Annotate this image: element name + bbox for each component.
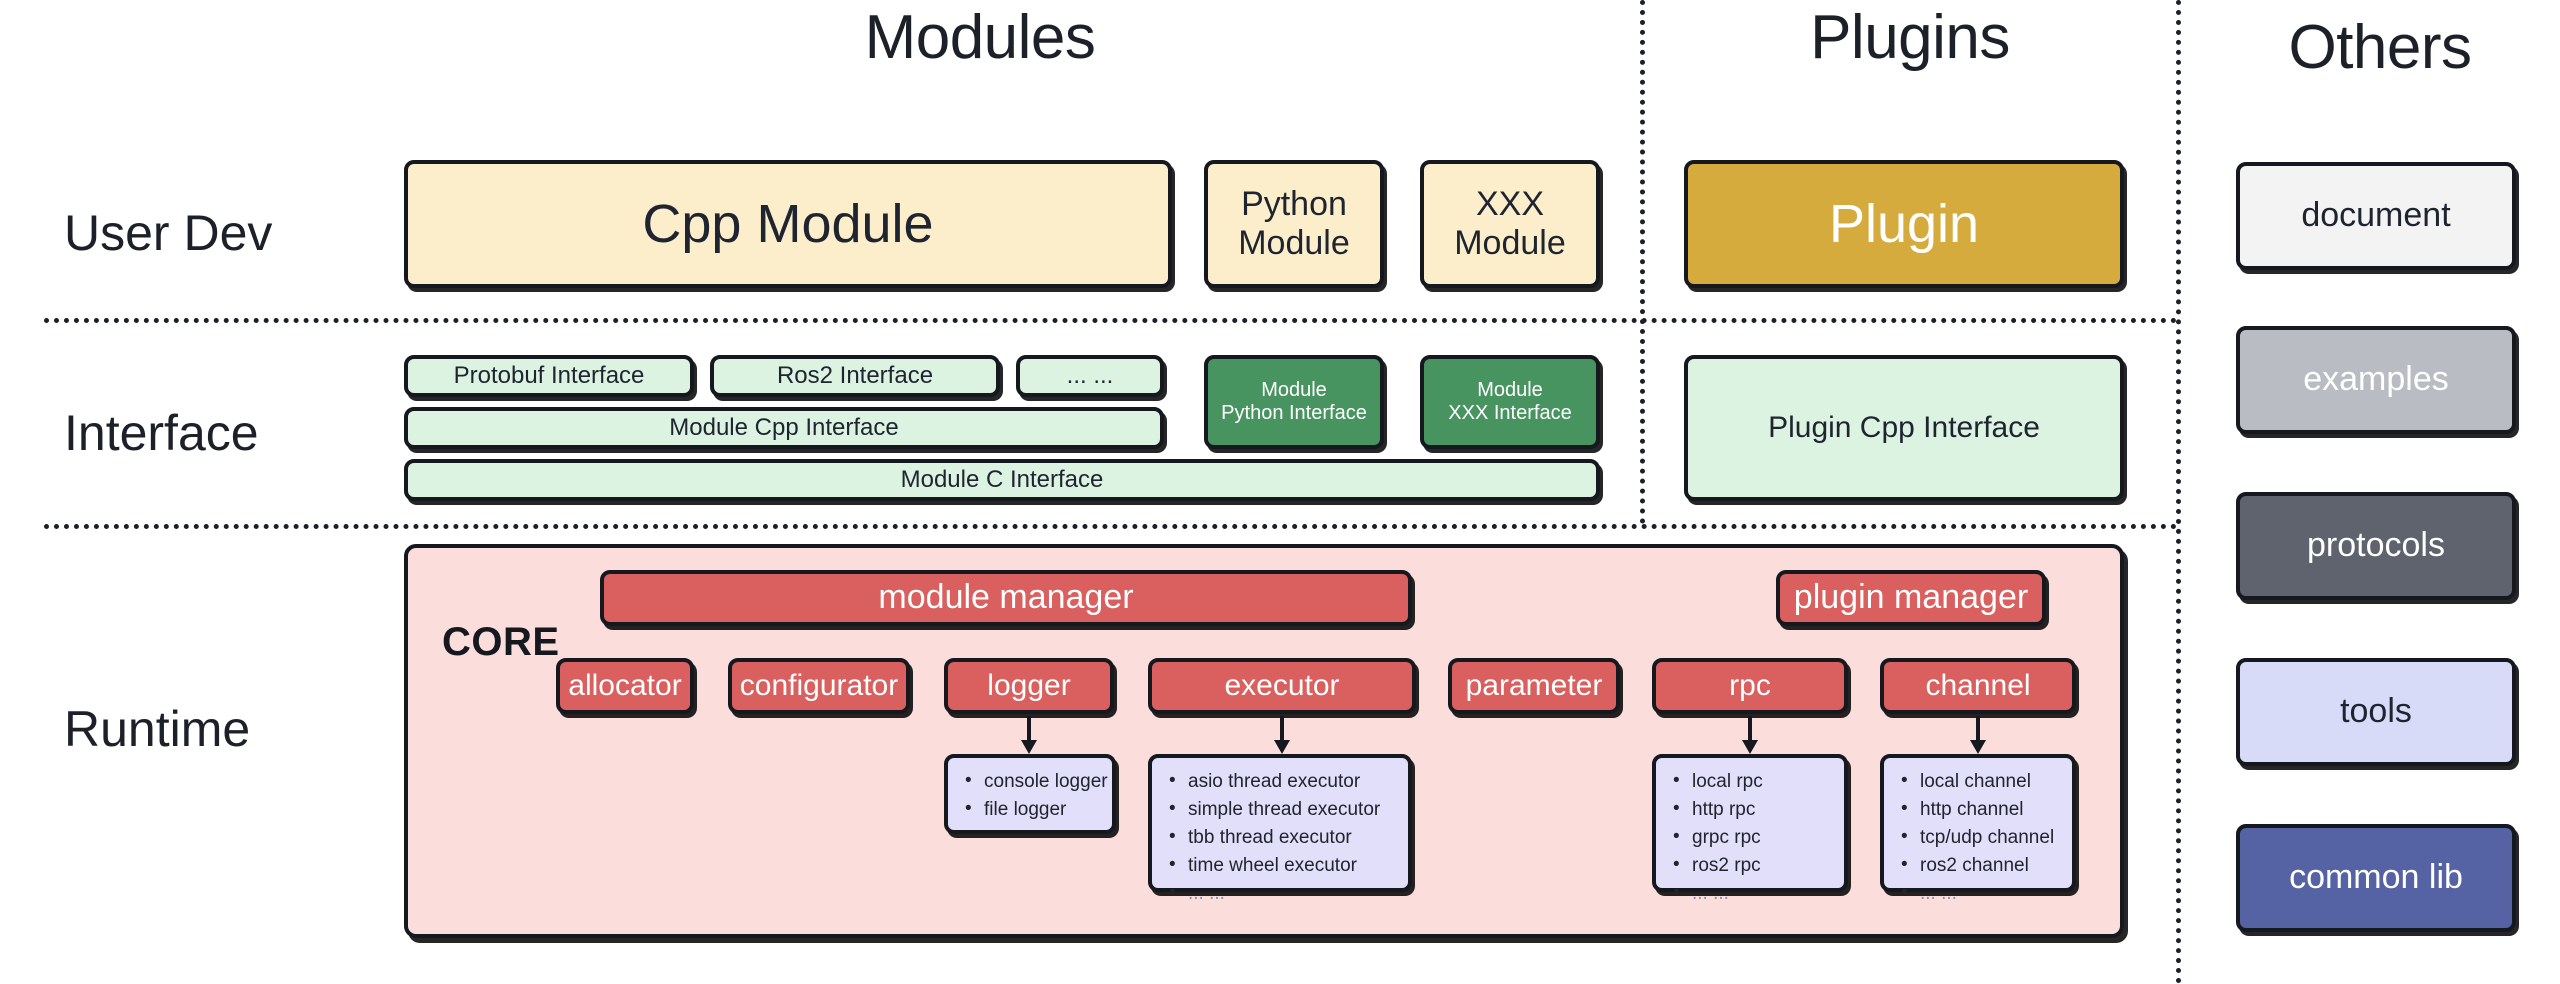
column-title-others: Others xyxy=(2220,12,2540,83)
module-python-interface-label: Module Python Interface xyxy=(1221,379,1367,425)
logger-detail-list: console loggerfile logger xyxy=(962,772,1102,828)
executor-detail-box: asio thread executorsimple thread execut… xyxy=(1148,754,1412,892)
others-item-common-lib-label: common lib xyxy=(2289,858,2463,897)
module-xxx-interface-label: Module XXX Interface xyxy=(1448,379,1571,425)
list-item: file logger xyxy=(984,800,1102,819)
xxx-module-label: XXX Module xyxy=(1454,185,1566,263)
rpc-detail-list: local rpchttp rpcgrpc rpcros2 rpc... ... xyxy=(1670,772,1834,912)
channel-label: channel xyxy=(1925,669,2030,704)
plugin-box[interactable]: Plugin xyxy=(1684,160,2124,288)
logger-label: logger xyxy=(987,669,1070,704)
row-label-runtime: Runtime xyxy=(64,700,250,758)
more-interface-box[interactable]: ... ... xyxy=(1016,355,1164,397)
list-item: asio thread executor xyxy=(1188,772,1398,791)
others-item-common-lib[interactable]: common lib xyxy=(2236,824,2516,932)
logger-detail-box: console loggerfile logger xyxy=(944,754,1116,834)
ros2-interface-label: Ros2 Interface xyxy=(777,362,933,390)
channel-detail-box: local channelhttp channeltcp/udp channel… xyxy=(1880,754,2076,892)
protobuf-interface-label: Protobuf Interface xyxy=(454,362,645,390)
plugin-cpp-interface-label: Plugin Cpp Interface xyxy=(1768,411,2040,446)
list-item: tcp/udp channel xyxy=(1920,828,2062,847)
plugin-manager-box[interactable]: plugin manager xyxy=(1776,570,2046,626)
module-c-interface-box[interactable]: Module C Interface xyxy=(404,459,1600,501)
parameter-box[interactable]: parameter xyxy=(1448,658,1620,714)
divider-plugins-others xyxy=(2176,0,2181,984)
plugin-manager-label: plugin manager xyxy=(1794,578,2028,617)
rpc-arrow-icon xyxy=(1738,716,1762,754)
others-item-tools[interactable]: tools xyxy=(2236,658,2516,766)
list-item: http channel xyxy=(1920,800,2062,819)
module-python-interface-box[interactable]: Module Python Interface xyxy=(1204,355,1384,449)
channel-detail-list: local channelhttp channeltcp/udp channel… xyxy=(1898,772,2062,912)
others-item-protocols-label: protocols xyxy=(2307,526,2445,565)
cpp-module-label: Cpp Module xyxy=(642,193,933,255)
ros2-interface-box[interactable]: Ros2 Interface xyxy=(710,355,1000,397)
allocator-box[interactable]: allocator xyxy=(556,658,694,714)
cpp-module-box[interactable]: Cpp Module xyxy=(404,160,1172,288)
configurator-box[interactable]: configurator xyxy=(728,658,910,714)
module-cpp-interface-label: Module Cpp Interface xyxy=(669,414,898,442)
others-item-examples-label: examples xyxy=(2303,360,2449,399)
python-module-label: Python Module xyxy=(1238,185,1350,263)
python-module-box[interactable]: Python Module xyxy=(1204,160,1384,288)
list-item: ros2 channel xyxy=(1920,856,2062,875)
list-item: ... ... xyxy=(1188,884,1398,903)
module-cpp-interface-box[interactable]: Module Cpp Interface xyxy=(404,407,1164,449)
list-item: local rpc xyxy=(1692,772,1834,791)
rpc-detail-box: local rpchttp rpcgrpc rpcros2 rpc... ... xyxy=(1652,754,1848,892)
module-manager-label: module manager xyxy=(878,578,1133,617)
others-item-document-label: document xyxy=(2301,196,2450,235)
xxx-module-box[interactable]: XXX Module xyxy=(1420,160,1600,288)
rpc-label: rpc xyxy=(1729,669,1771,704)
module-manager-box[interactable]: module manager xyxy=(600,570,1412,626)
others-item-tools-label: tools xyxy=(2340,692,2412,731)
rpc-box[interactable]: rpc xyxy=(1652,658,1848,714)
list-item: console logger xyxy=(984,772,1102,791)
list-item: local channel xyxy=(1920,772,2062,791)
executor-label: executor xyxy=(1224,669,1339,704)
row-label-user-dev: User Dev xyxy=(64,204,272,262)
logger-arrow-icon xyxy=(1017,716,1041,754)
channel-box[interactable]: channel xyxy=(1880,658,2076,714)
list-item: http rpc xyxy=(1692,800,1834,819)
logger-box[interactable]: logger xyxy=(944,658,1114,714)
list-item: time wheel executor xyxy=(1188,856,1398,875)
others-item-examples[interactable]: examples xyxy=(2236,326,2516,434)
list-item: simple thread executor xyxy=(1188,800,1398,819)
list-item: ros2 rpc xyxy=(1692,856,1834,875)
list-item: ... ... xyxy=(1920,884,2062,903)
plugin-label: Plugin xyxy=(1829,193,1979,255)
others-item-protocols[interactable]: protocols xyxy=(2236,492,2516,600)
row-label-interface: Interface xyxy=(64,404,259,462)
architecture-diagram: Modules Plugins Others User Dev Interfac… xyxy=(0,0,2560,984)
plugin-cpp-interface-box[interactable]: Plugin Cpp Interface xyxy=(1684,355,2124,501)
executor-arrow-icon xyxy=(1270,716,1294,754)
others-item-document[interactable]: document xyxy=(2236,162,2516,270)
module-c-interface-label: Module C Interface xyxy=(901,466,1104,494)
column-title-plugins: Plugins xyxy=(1700,2,2120,73)
configurator-label: configurator xyxy=(740,669,898,704)
more-interface-label: ... ... xyxy=(1067,362,1114,390)
divider-modules-plugins xyxy=(1640,0,1645,524)
channel-arrow-icon xyxy=(1966,716,1990,754)
core-label: CORE xyxy=(442,620,560,665)
list-item: ... ... xyxy=(1692,884,1834,903)
list-item: tbb thread executor xyxy=(1188,828,1398,847)
parameter-label: parameter xyxy=(1466,669,1603,704)
module-xxx-interface-box[interactable]: Module XXX Interface xyxy=(1420,355,1600,449)
executor-box[interactable]: executor xyxy=(1148,658,1416,714)
allocator-label: allocator xyxy=(568,669,681,704)
divider-user-dev-interface xyxy=(44,318,2178,323)
protobuf-interface-box[interactable]: Protobuf Interface xyxy=(404,355,694,397)
divider-interface-runtime xyxy=(44,524,2178,529)
executor-detail-list: asio thread executorsimple thread execut… xyxy=(1166,772,1398,912)
column-title-modules: Modules xyxy=(740,2,1220,73)
list-item: grpc rpc xyxy=(1692,828,1834,847)
